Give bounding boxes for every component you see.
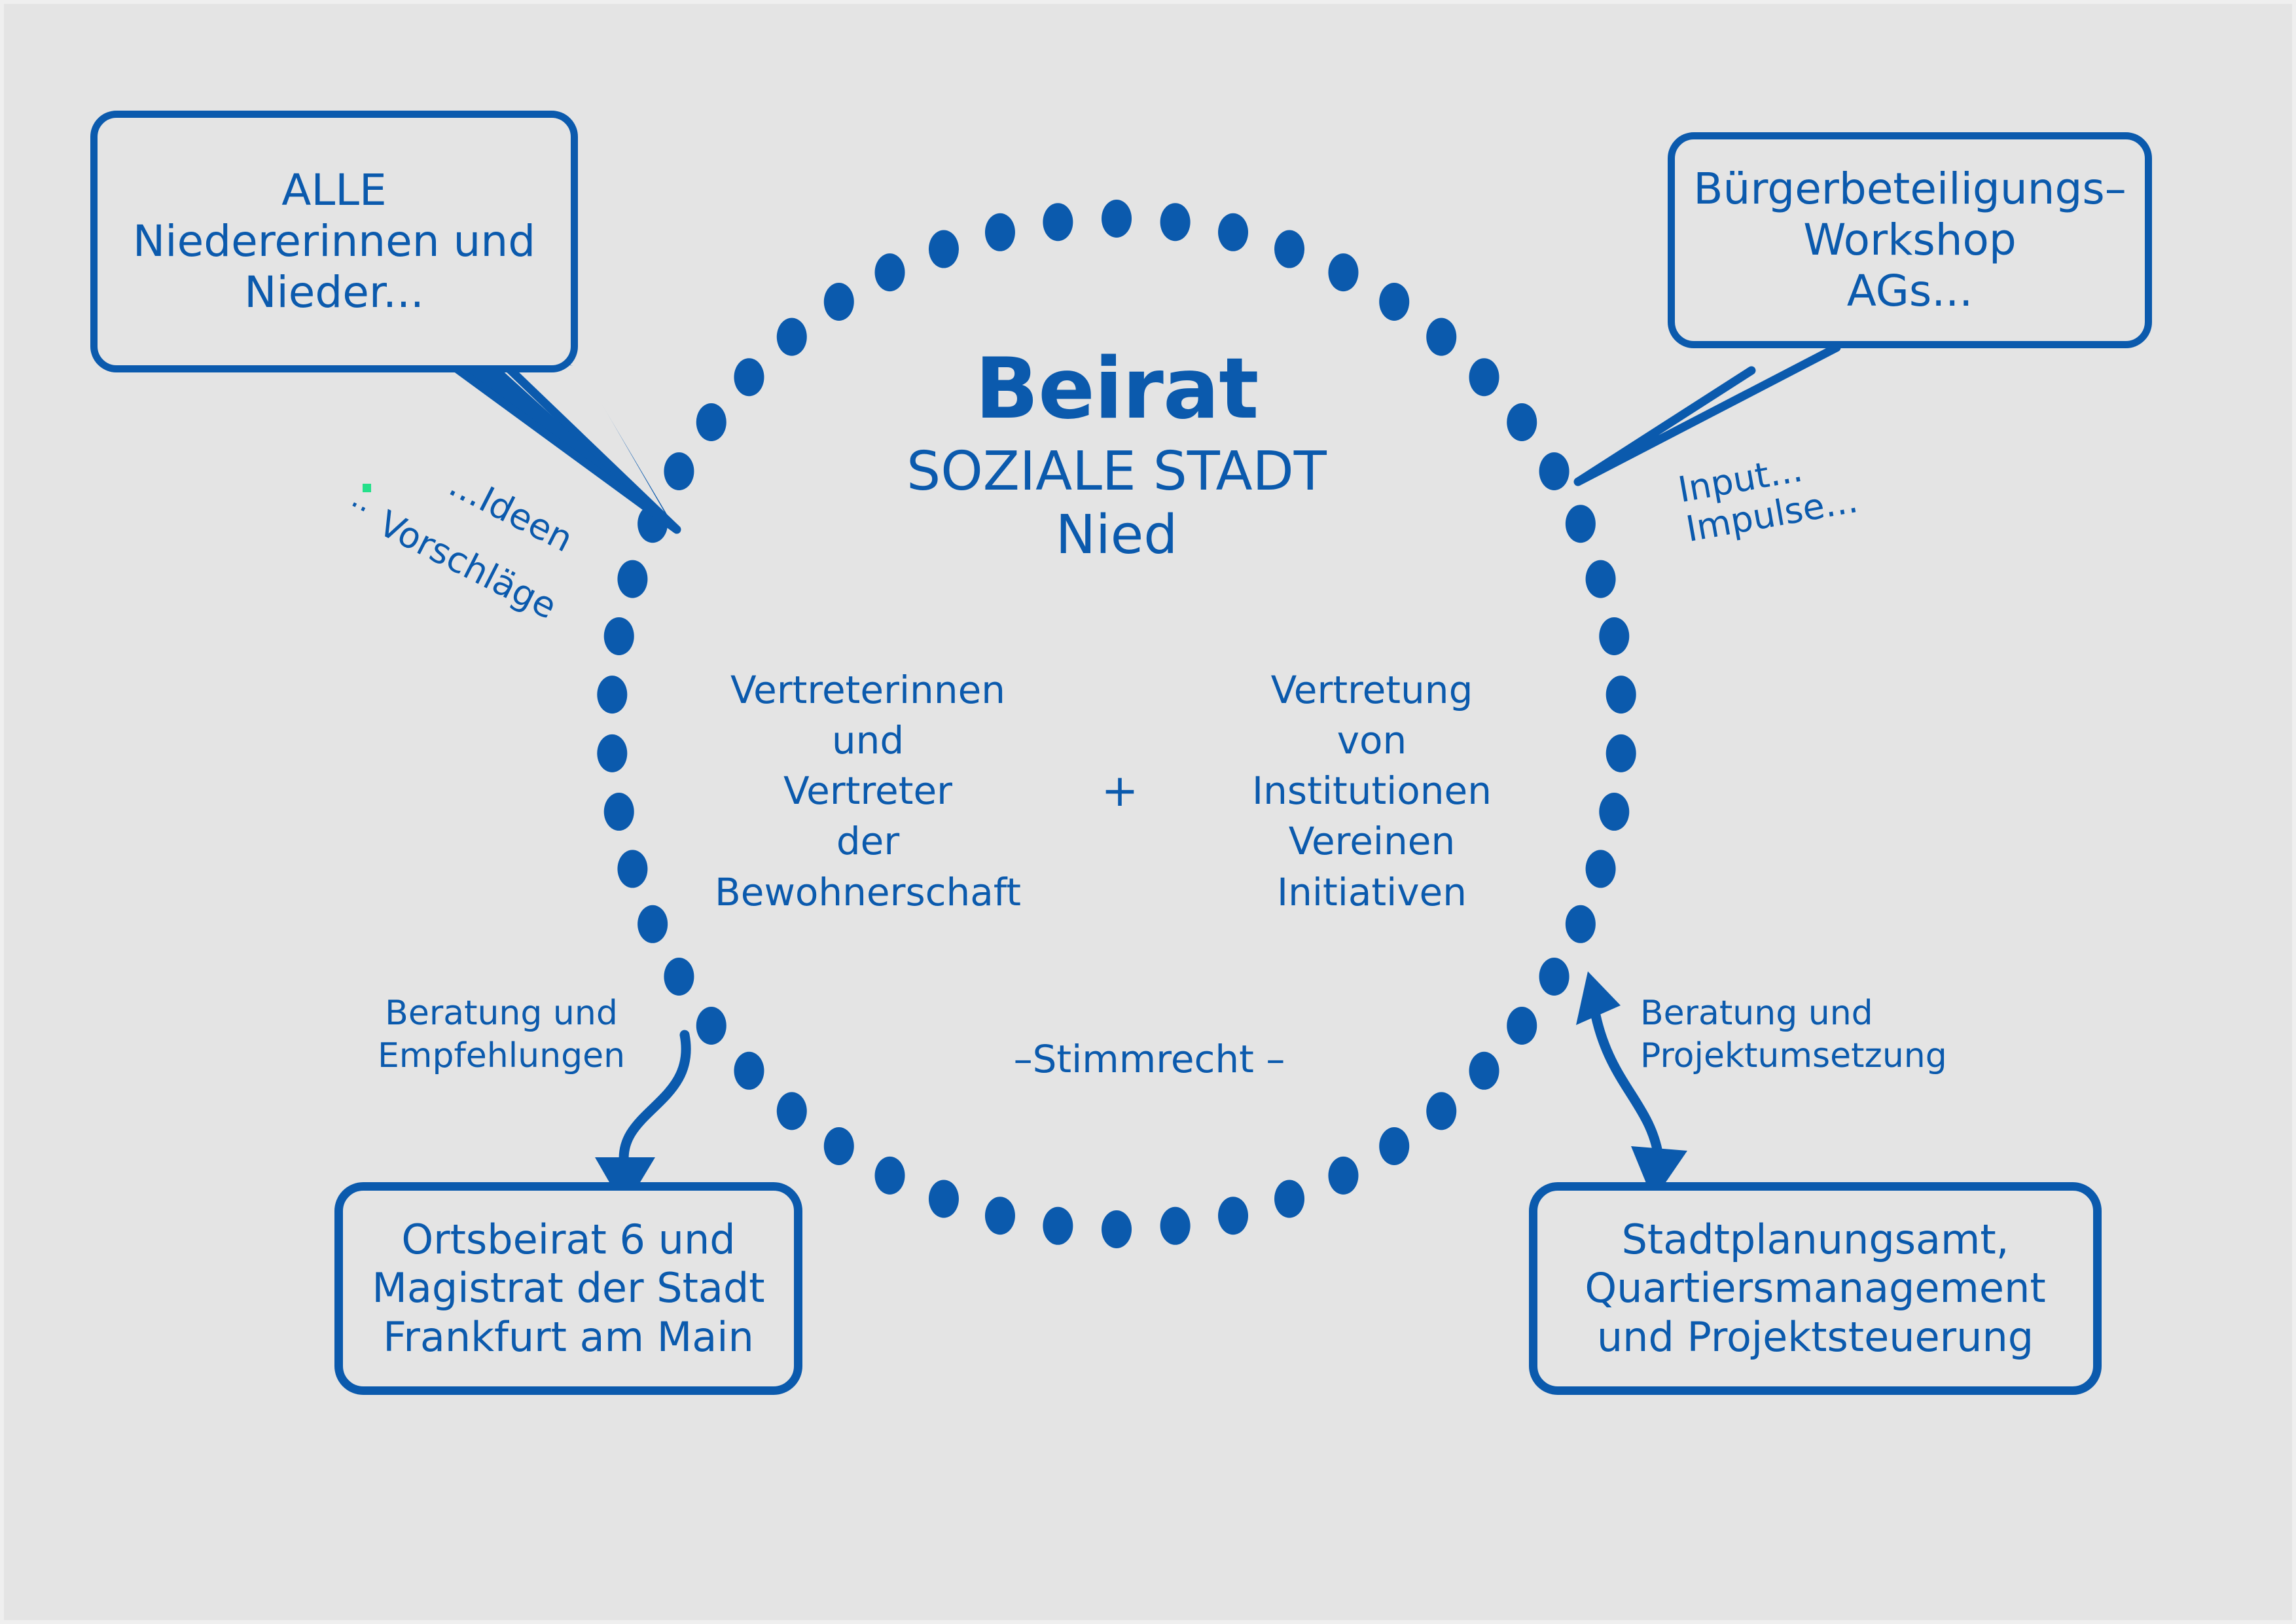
ring-dot bbox=[875, 253, 905, 291]
page-title: Beirat bbox=[678, 348, 1555, 431]
ring-dot bbox=[1328, 253, 1358, 291]
ring-dot bbox=[1426, 1092, 1456, 1130]
ring-dot bbox=[1379, 283, 1409, 321]
arrow-left-down bbox=[624, 1035, 686, 1166]
column-institutions: Vertretung von Institutionen Vereinen In… bbox=[1202, 665, 1542, 918]
ring-dot bbox=[1507, 1007, 1537, 1045]
ring-dot bbox=[824, 1127, 854, 1165]
annotation-beratung-projektumsetzung: Beratung und Projektumsetzung bbox=[1640, 992, 1948, 1077]
ring-dot bbox=[1606, 734, 1636, 772]
column-line: Bewohnerschaft bbox=[698, 867, 1038, 918]
ring-dot bbox=[1218, 213, 1248, 251]
ring-dot bbox=[1566, 905, 1596, 943]
ring-dot bbox=[1274, 230, 1304, 268]
subtitle-district: Nied bbox=[678, 504, 1555, 568]
entity-box-ortsbeirat-magistrat[interactable]: Ortsbeirat 6 und Magistrat der Stadt Fra… bbox=[334, 1182, 802, 1395]
label-line: Beratung und bbox=[370, 992, 632, 1035]
subtitle-program: SOZIALE STADT bbox=[678, 441, 1555, 504]
ring-dot bbox=[604, 617, 634, 655]
ring-dot bbox=[1586, 560, 1616, 598]
bubble-line: Nieder... bbox=[244, 267, 424, 318]
bubble-line: Workshop bbox=[1803, 215, 2017, 266]
box-line: und Projektsteuerung bbox=[1597, 1313, 2034, 1362]
ring-dot bbox=[1586, 850, 1616, 888]
ring-dot bbox=[637, 505, 668, 543]
ring-dot bbox=[1102, 1210, 1132, 1248]
label-line: Empfehlungen bbox=[370, 1035, 632, 1077]
bubble-line: Niedererinnen und bbox=[133, 216, 535, 267]
bubble-line: Bürgerbeteiligungs– bbox=[1693, 164, 2126, 215]
ring-dot bbox=[1379, 1127, 1409, 1165]
box-line: Quartiersmanagement bbox=[1585, 1264, 2045, 1312]
ring-dot bbox=[734, 1052, 764, 1090]
ring-dot bbox=[664, 958, 694, 996]
column-line: Institutionen bbox=[1202, 766, 1542, 816]
ring-dot bbox=[1274, 1180, 1304, 1218]
column-line: der bbox=[698, 816, 1038, 867]
ring-dot bbox=[1043, 1207, 1073, 1245]
ring-dot bbox=[1469, 1052, 1499, 1090]
box-line: Magistrat der Stadt bbox=[372, 1264, 764, 1312]
ring-dot bbox=[597, 676, 627, 713]
arrow-right-up-head bbox=[1576, 971, 1621, 1025]
column-line: und bbox=[698, 715, 1038, 766]
ring-dot bbox=[777, 1092, 807, 1130]
entity-box-stadtplanungsamt[interactable]: Stadtplanungsamt, Quartiersmanagement un… bbox=[1529, 1182, 2102, 1395]
ring-dot bbox=[985, 213, 1015, 251]
ring-dot bbox=[875, 1157, 905, 1195]
ring-dot bbox=[1566, 505, 1596, 543]
box-line: Ortsbeirat 6 und bbox=[401, 1216, 735, 1264]
column-line: Initiativen bbox=[1202, 867, 1542, 918]
ring-dot bbox=[1599, 793, 1629, 831]
lead-dots-left: .. bbox=[346, 478, 380, 521]
ring-dot bbox=[637, 905, 668, 943]
ring-dot bbox=[617, 850, 647, 888]
speech-bubble-participation-workshop[interactable]: Bürgerbeteiligungs– Workshop AGs... bbox=[1668, 132, 2152, 348]
ring-dot bbox=[1606, 676, 1636, 713]
column-residents: Vertreterinnen und Vertreter der Bewohne… bbox=[698, 665, 1038, 918]
center-title-block: Beirat SOZIALE STADT Nied bbox=[678, 348, 1555, 568]
bubble-line: ALLE bbox=[281, 165, 386, 216]
ring-dot bbox=[597, 734, 627, 772]
column-line: Vertreterinnen bbox=[698, 665, 1038, 715]
box-line: Frankfurt am Main bbox=[383, 1313, 754, 1362]
ring-dot bbox=[985, 1197, 1015, 1235]
column-line: Vertreter bbox=[698, 766, 1038, 816]
ring-dot bbox=[1539, 958, 1570, 996]
box-line: Stadtplanungsamt, bbox=[1622, 1216, 2009, 1264]
bubble-line: AGs... bbox=[1847, 266, 1973, 317]
ring-dot bbox=[1160, 203, 1191, 241]
column-line: Vertretung bbox=[1202, 665, 1542, 715]
ring-dot bbox=[1102, 200, 1132, 238]
voting-rights-note: –Stimmrecht – bbox=[881, 1037, 1418, 1081]
ring-dot bbox=[604, 793, 634, 831]
ring-dot bbox=[1160, 1207, 1191, 1245]
ring-dot bbox=[929, 230, 959, 268]
ring-dot bbox=[1218, 1197, 1248, 1235]
speech-bubble-all-residents[interactable]: ALLE Niedererinnen und Nieder... bbox=[90, 111, 578, 372]
ring-dot bbox=[696, 1007, 726, 1045]
ring-dot bbox=[1328, 1157, 1358, 1195]
ring-dot bbox=[1599, 617, 1629, 655]
diagram-canvas: ALLE Niedererinnen und Nieder... Bürgerb… bbox=[0, 0, 2296, 1624]
label-line: Projektumsetzung bbox=[1640, 1035, 1948, 1077]
membership-columns: Vertreterinnen und Vertreter der Bewohne… bbox=[698, 665, 1542, 918]
annotation-beratung-empfehlungen: Beratung und Empfehlungen bbox=[370, 992, 632, 1077]
column-line: von bbox=[1202, 715, 1542, 766]
plus-operator: + bbox=[1084, 769, 1156, 814]
ring-dot bbox=[824, 283, 854, 321]
ring-dot bbox=[1043, 203, 1073, 241]
column-line: Vereinen bbox=[1202, 816, 1542, 867]
ring-dot bbox=[617, 560, 647, 598]
label-line: Beratung und bbox=[1640, 992, 1948, 1035]
ring-dot bbox=[929, 1180, 959, 1218]
